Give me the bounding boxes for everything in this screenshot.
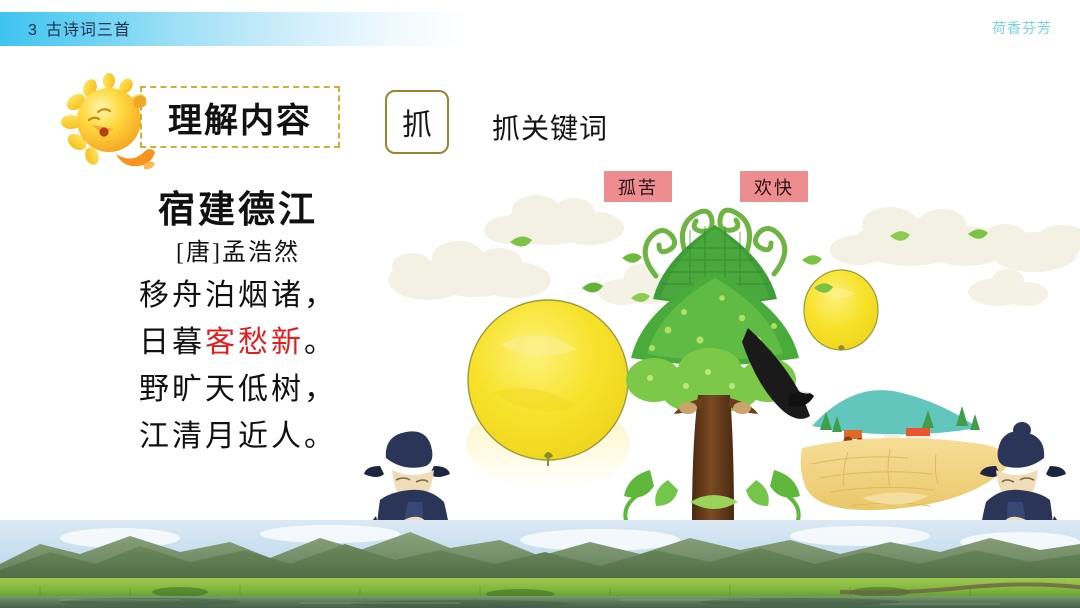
poem-author: [唐]孟浩然: [108, 239, 368, 268]
poem-line: 野旷天低树，: [108, 372, 368, 408]
chapter-number: 3: [28, 22, 38, 39]
poem-text: 。: [304, 326, 337, 359]
poem-text: 野旷天低树，: [139, 373, 337, 406]
poem-title: 宿建德江: [108, 190, 368, 233]
section-title: 理解内容: [142, 88, 338, 146]
method-chip-char: 抓: [402, 100, 432, 144]
poem-highlight: 客愁新: [205, 326, 304, 359]
method-chip[interactable]: 抓: [385, 90, 449, 154]
poem-text: 移舟泊烟诸，: [139, 279, 337, 312]
scholar-figure-icon: [979, 422, 1066, 520]
poem-line: 江清月近人。: [108, 419, 368, 455]
landscape-photo-band: [0, 520, 1080, 608]
poem-line: 日暮客愁新。: [108, 325, 368, 361]
poem-line: 移舟泊烟诸，: [108, 278, 368, 314]
poem-text: 江清月近人。: [139, 420, 337, 453]
poem-text: 日暮: [139, 326, 205, 359]
chapter-title: 古诗词三首: [46, 22, 131, 39]
big-moon-icon: [466, 300, 630, 490]
section-title-box: 理解内容: [140, 86, 340, 148]
method-label: 抓关键词: [492, 107, 608, 147]
farm-field-icon: [801, 390, 1009, 510]
poem-block: 宿建德江 [唐]孟浩然 移舟泊烟诸， 日暮客愁新。 野旷天低树， 江清月近人。: [108, 190, 368, 455]
scholar-figure-icon: [364, 431, 451, 520]
illustration: [350, 180, 1080, 520]
header-chapter: 3古诗词三首: [28, 16, 131, 40]
header-right-label: 荷香芬芳: [992, 18, 1052, 38]
slide-root: 3古诗词三首 荷香芬芳: [0, 0, 1080, 608]
small-moon-icon: [804, 270, 878, 350]
